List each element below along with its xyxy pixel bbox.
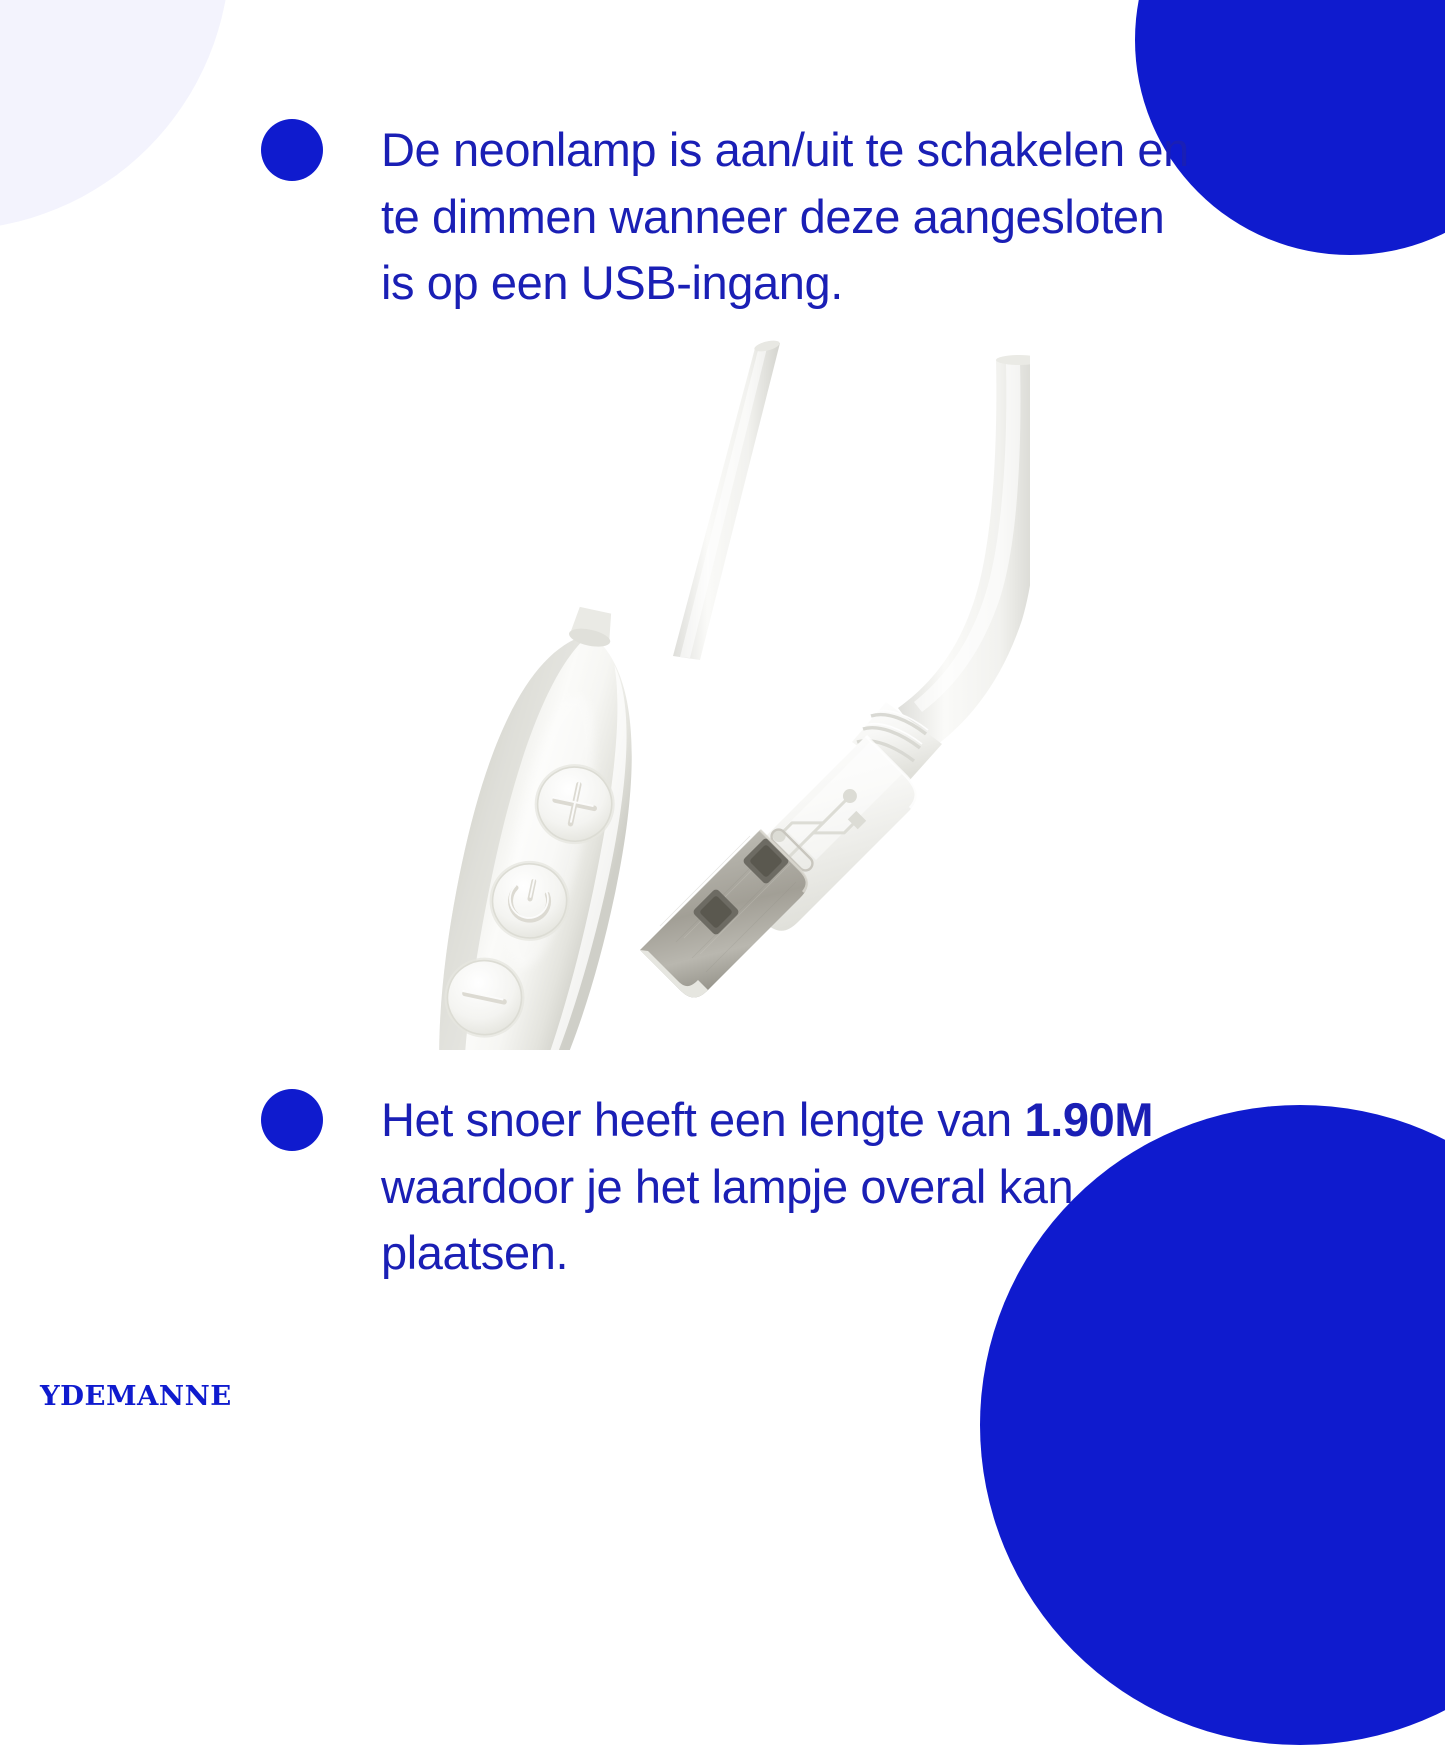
cable-length-text-after: waardoor je het lampje overal kan plaats… bbox=[381, 1160, 1073, 1280]
feature-bullet-cable-length-text: Het snoer heeft een lengte van 1.90M waa… bbox=[381, 1087, 1191, 1287]
inline-dimmer-controller: VW-1 bbox=[376, 594, 671, 1050]
feature-bullet-cable-length: Het snoer heeft een lengte van 1.90M waa… bbox=[261, 1087, 1191, 1287]
product-photo: VW-1 bbox=[330, 330, 1030, 1050]
bullet-dot-icon bbox=[261, 119, 323, 181]
top-left-lavender-blob bbox=[0, 0, 230, 230]
cable-right-segment bbox=[898, 355, 1030, 750]
cable-upper-segment bbox=[673, 338, 781, 660]
cable-length-text-before: Het snoer heeft een lengte van bbox=[381, 1093, 1024, 1146]
cable-length-highlight: 1.90M bbox=[1024, 1093, 1153, 1146]
feature-bullet-dimmer-text: De neonlamp is aan/uit te schakelen en t… bbox=[381, 117, 1191, 317]
feature-bullet-dimmer: De neonlamp is aan/uit te schakelen en t… bbox=[261, 117, 1191, 317]
brand-logo: YDEMANNE bbox=[40, 1381, 232, 1412]
bullet-dot-icon bbox=[261, 1089, 323, 1151]
usb-dimmer-cable-illustration: VW-1 bbox=[330, 330, 1030, 1050]
